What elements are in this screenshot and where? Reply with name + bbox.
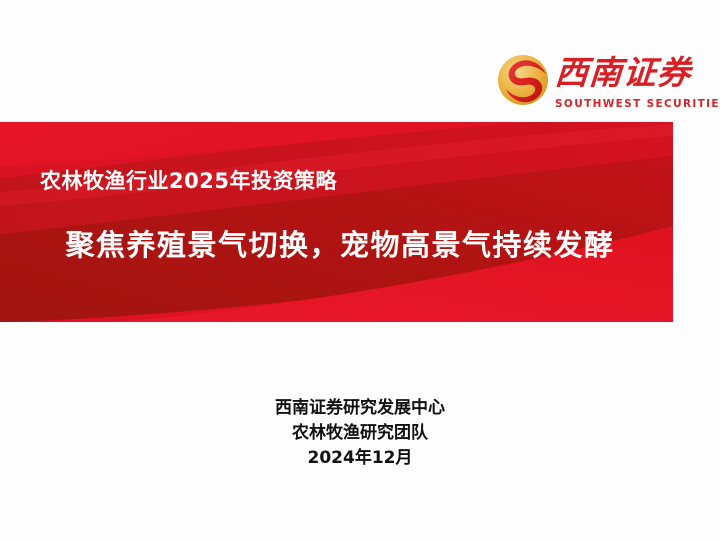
slide-title: 聚焦养殖景气切换，宠物高景气持续发酵 [0,224,680,266]
slide-footer: 西南证券研究发展中心 农林牧渔研究团队 2024年12月 [0,396,720,471]
footer-line-research-center: 西南证券研究发展中心 [0,396,720,421]
title-banner [0,122,673,322]
brand-name-cn: 西南证券 [554,52,693,94]
slide-subtitle: 农林牧渔行业2025年投资策略 [40,166,600,196]
southwest-securities-s-swirl-icon [497,54,549,106]
brand-name-en: SOUTHWEST SECURITIES [555,98,695,110]
presentation-slide: 西南证券 SOUTHWEST SECURITIES [0,0,720,540]
brand-logo: 西南证券 SOUTHWEST SECURITIES [497,52,692,118]
brand-wordmark: 西南证券 [555,52,691,96]
footer-line-date: 2024年12月 [0,446,720,471]
footer-line-team: 农林牧渔研究团队 [0,421,720,446]
banner-text-layer [0,122,673,322]
